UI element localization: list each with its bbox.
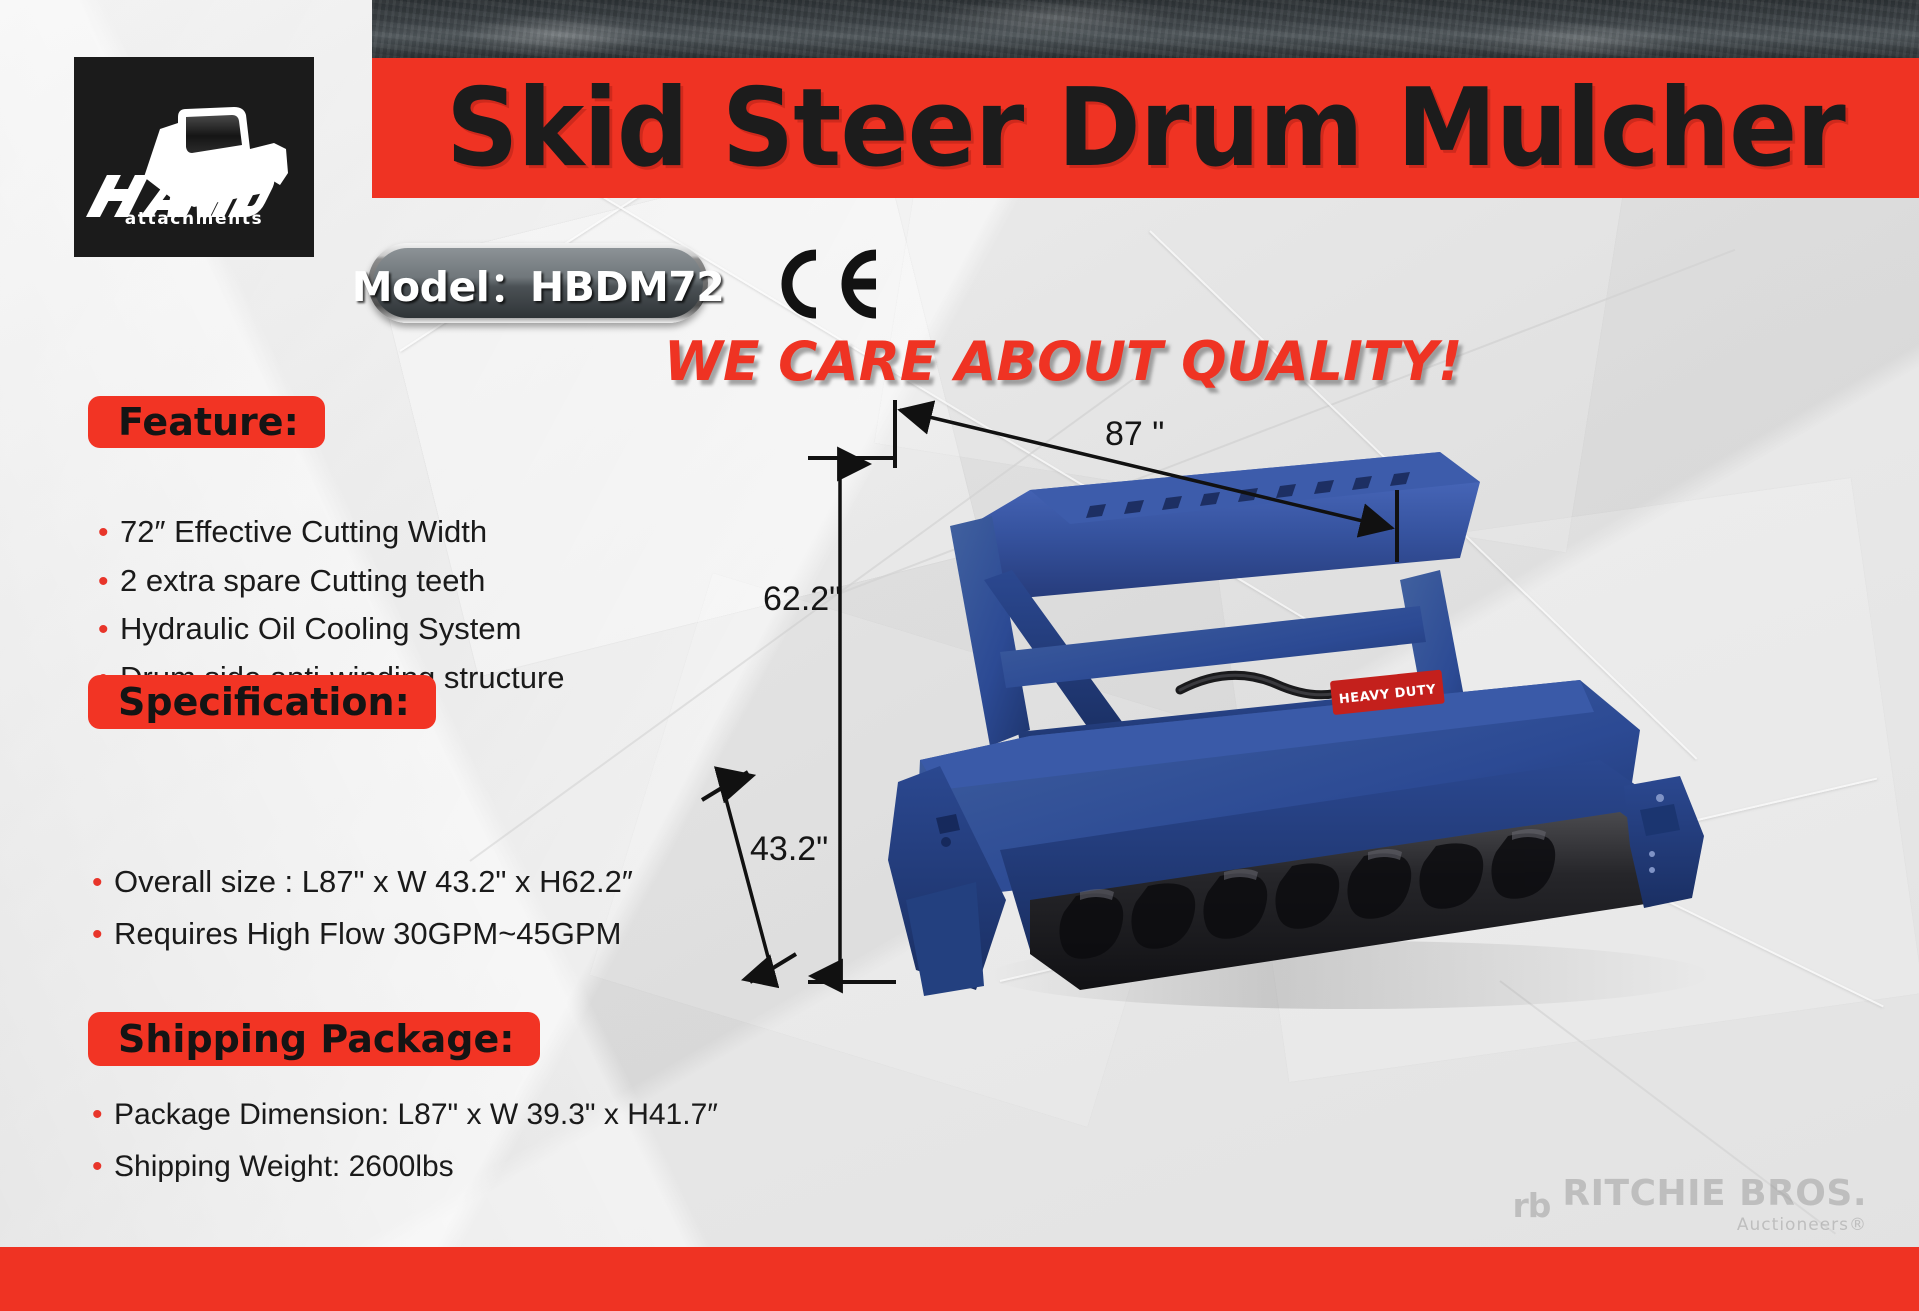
bullet-dot-icon: • xyxy=(92,868,114,898)
top-texture-strip xyxy=(372,0,1919,58)
list-item: • Requires High Flow 30GPM~45GPM xyxy=(92,914,633,954)
list-item: • Package Dimension: L87" x W 39.3" x H4… xyxy=(92,1096,718,1134)
drum-mulcher-illustration: HEAVY DUTY xyxy=(880,430,1820,1020)
list-item: • 72″ Effective Cutting Width xyxy=(98,512,565,552)
shipping-item-text: Shipping Weight: 2600lbs xyxy=(114,1148,454,1186)
product-spec-poster: attachments Skid Steer Drum Mulcher Mode… xyxy=(0,0,1919,1311)
quality-tagline: WE CARE ABOUT QUALITY! xyxy=(664,330,1462,393)
feature-item-text: 2 extra spare Cutting teeth xyxy=(120,561,485,601)
list-item: • Overall size : L87" x W 43.2" x H62.2″ xyxy=(92,862,633,902)
list-item: • Shipping Weight: 2600lbs xyxy=(92,1148,718,1186)
ce-mark-icon xyxy=(770,245,890,328)
list-item: • Hydraulic Oil Cooling System xyxy=(98,609,565,649)
bottom-accent-bar xyxy=(0,1247,1919,1311)
bullet-dot-icon: • xyxy=(98,567,120,597)
dimension-height-label: 62.2" xyxy=(763,580,841,619)
bullet-dot-icon: • xyxy=(92,1152,114,1182)
brand-logo: attachments xyxy=(74,57,314,257)
ritchie-bros-watermark: rb RITCHIE BROS. Auctioneers® xyxy=(1512,1176,1867,1235)
bullet-dot-icon: • xyxy=(92,920,114,950)
specification-item-text: Overall size : L87" x W 43.2" x H62.2″ xyxy=(114,862,633,902)
shipping-item-text: Package Dimension: L87" x W 39.3" x H41.… xyxy=(114,1096,718,1134)
watermark-name: RITCHIE BROS. xyxy=(1562,1176,1867,1212)
watermark-subtitle: Auctioneers® xyxy=(1562,1215,1867,1235)
product-photo: HEAVY DUTY xyxy=(880,430,1820,1020)
dimension-width-label: 43.2" xyxy=(750,830,828,869)
shipping-section-label: Shipping Package: xyxy=(88,1012,540,1066)
feature-item-text: Hydraulic Oil Cooling System xyxy=(120,609,521,649)
specification-section-label: Specification: xyxy=(88,675,436,729)
model-badge-inner: Model：HBDM72 xyxy=(373,248,703,318)
logo-wordmark: attachments xyxy=(74,209,314,229)
bullet-dot-icon: • xyxy=(92,1100,114,1130)
feature-section-label: Feature: xyxy=(88,396,325,448)
page-title: Skid Steer Drum Mulcher xyxy=(426,62,1865,194)
bullet-dot-icon: • xyxy=(98,615,120,645)
model-badge: Model：HBDM72 xyxy=(368,243,708,323)
specification-list: • Overall size : L87" x W 43.2" x H62.2″… xyxy=(92,862,633,965)
specification-item-text: Requires High Flow 30GPM~45GPM xyxy=(114,914,621,954)
shipping-list: • Package Dimension: L87" x W 39.3" x H4… xyxy=(92,1096,718,1201)
dimension-length-label: 87 " xyxy=(1105,415,1164,454)
bullet-dot-icon: • xyxy=(98,518,120,548)
rb-monogram-icon: rb xyxy=(1512,1186,1550,1225)
model-number: Model：HBDM72 xyxy=(352,253,725,313)
list-item: • 2 extra spare Cutting teeth xyxy=(98,561,565,601)
feature-item-text: 72″ Effective Cutting Width xyxy=(120,512,487,552)
